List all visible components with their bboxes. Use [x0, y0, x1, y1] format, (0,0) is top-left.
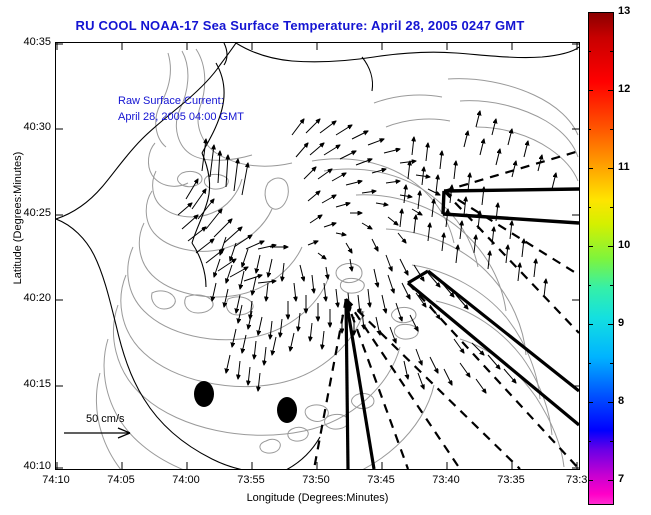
xtick-label: 74:05 [91, 474, 151, 486]
station-markers [194, 381, 297, 423]
colorbar-tick-label: 10 [618, 239, 630, 251]
colorbar-tick-label: 12 [618, 83, 630, 95]
colorbar-tick-label: 9 [618, 317, 624, 329]
annotation-line-2: April 28, 2005 04:00 GMT [118, 111, 244, 123]
scale-bar: 50 cm/s [76, 413, 186, 453]
map-plot-area[interactable]: Raw Surface Current: April 28, 2005 04:0… [55, 42, 580, 470]
surface-current-vector-field [178, 111, 556, 393]
colorbar-tick-label: 13 [618, 5, 630, 17]
scale-bar-label: 50 cm/s [86, 413, 125, 425]
xtick-label: 73:40 [416, 474, 476, 486]
station-marker-2[interactable] [277, 397, 297, 423]
ytick-label: 40:25 [3, 207, 51, 219]
radar-beam-lines-dashed [314, 151, 579, 469]
station-marker-1[interactable] [194, 381, 214, 407]
figure-title: RU COOL NOAA-17 Sea Surface Temperature:… [0, 18, 600, 33]
colorbar-ticks [588, 12, 614, 505]
xtick-label: 73:55 [221, 474, 281, 486]
x-axis-ticklabels: 74:10 74:05 74:00 73:55 73:50 73:45 73:4… [55, 474, 580, 490]
xtick-label: 73:45 [351, 474, 411, 486]
ytick-label: 40:35 [3, 36, 51, 48]
colorbar-tick-label: 8 [618, 395, 624, 407]
ytick-label: 40:20 [3, 292, 51, 304]
xtick-label: 74:00 [156, 474, 216, 486]
ytick-label: 40:10 [3, 460, 51, 472]
xtick-label: 73:35 [481, 474, 541, 486]
xtick-label: 73:50 [286, 474, 346, 486]
ytick-label: 40:15 [3, 378, 51, 390]
ytick-label: 40:30 [3, 121, 51, 133]
colorbar-tick-label: 11 [618, 161, 630, 173]
figure-canvas: RU COOL NOAA-17 Sea Surface Temperature:… [0, 0, 651, 515]
x-axis-label: Longitude (Degrees:Minutes) [55, 492, 580, 504]
y-axis-ticklabels: 40:35 40:30 40:25 40:20 40:15 40:10 [0, 42, 51, 470]
y-axis-label: Latitude (Degrees:Minutes) [12, 8, 24, 428]
xtick-label: 74:10 [26, 474, 86, 486]
annotation-line-1: Raw Surface Current: [118, 95, 224, 107]
